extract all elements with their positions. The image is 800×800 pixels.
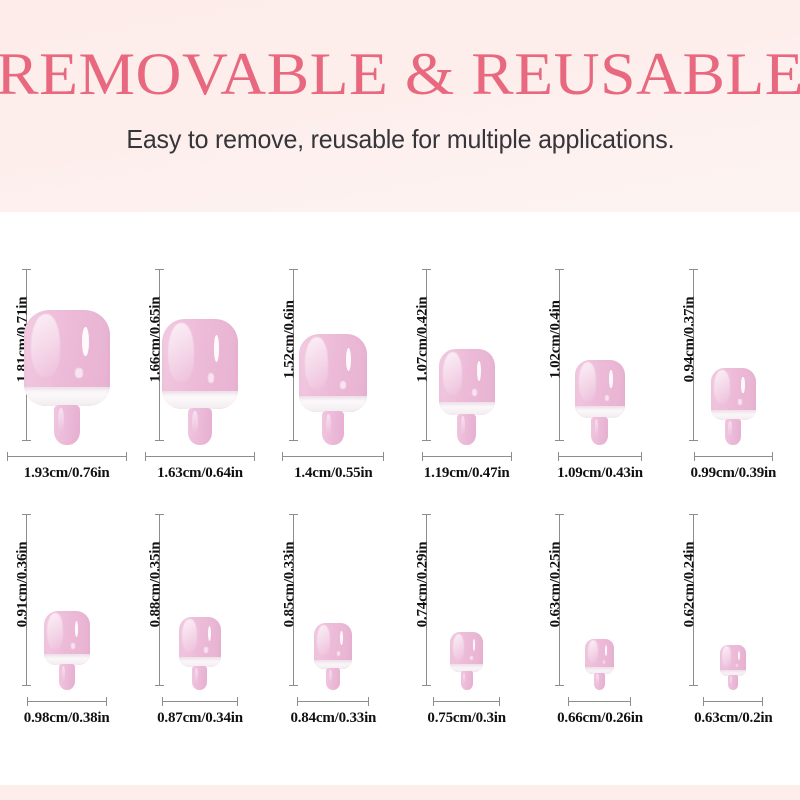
- press-on-nail-icon: [439, 349, 495, 446]
- press-on-nail-icon: [585, 639, 614, 691]
- press-on-nail-icon: [179, 617, 221, 691]
- width-label: 0.84cm/0.33in: [290, 710, 376, 727]
- width-dimension: 0.99cm/0.39in: [667, 452, 800, 482]
- nail-illustration-wrap: [133, 272, 266, 448]
- nail-stem: [54, 405, 80, 445]
- nail-gloss-highlight: [605, 645, 607, 656]
- size-cell: 1.81cm/0.71in1.93cm/0.76in: [0, 267, 133, 482]
- width-dimension-line: [282, 456, 384, 457]
- size-cell: 1.02cm/0.4in1.09cm/0.43in: [533, 267, 666, 482]
- size-cell: 1.66cm/0.65in1.63cm/0.64in: [133, 267, 266, 482]
- nail-white-tip: [24, 387, 110, 406]
- nail-gloss-highlight: [340, 631, 343, 645]
- width-dimension-line: [162, 701, 238, 702]
- width-label: 1.09cm/0.43in: [557, 465, 643, 482]
- width-dimension-line: [7, 456, 127, 457]
- nail-body: [299, 334, 367, 412]
- width-dimension-line-wrap: [694, 452, 773, 461]
- size-row-1: 1.81cm/0.71in1.93cm/0.76in1.66cm/0.65in1…: [0, 267, 800, 482]
- nail-gloss-highlight-secondary: [337, 651, 340, 656]
- width-dimension-cap-right: [630, 697, 631, 706]
- nail-gloss-highlight-secondary: [340, 381, 346, 390]
- width-dimension-cap-right: [254, 452, 255, 461]
- nail-white-tip: [162, 391, 238, 409]
- nail-gloss-highlight-secondary: [738, 399, 742, 405]
- size-chart: 1.81cm/0.71in1.93cm/0.76in1.66cm/0.65in1…: [0, 212, 800, 785]
- width-dimension-line-wrap: [422, 452, 512, 461]
- page-title: REMOVABLE & REUSABLE: [0, 44, 800, 104]
- nail-stem: [188, 408, 212, 445]
- width-dimension-line: [422, 456, 512, 457]
- nail-body: [44, 611, 90, 665]
- width-dimension-cap-right: [762, 697, 763, 706]
- width-dimension-line-wrap: [568, 697, 631, 706]
- nail-stem: [326, 668, 340, 690]
- nail-gloss-highlight-secondary: [605, 395, 609, 401]
- nail-gloss-highlight-secondary: [603, 660, 605, 664]
- nail-gloss-highlight: [609, 370, 613, 387]
- nail-gloss-highlight-secondary: [208, 373, 214, 383]
- size-row-2: 0.91cm/0.36in0.98cm/0.38in0.88cm/0.35in0…: [0, 512, 800, 727]
- width-dimension: 0.98cm/0.38in: [0, 697, 133, 727]
- width-dimension: 1.93cm/0.76in: [0, 452, 133, 482]
- nail-body: [314, 623, 352, 669]
- nail-body: [162, 319, 238, 409]
- width-label: 0.66cm/0.26in: [557, 710, 643, 727]
- width-dimension-line: [568, 701, 631, 702]
- width-dimension: 0.63cm/0.2in: [667, 697, 800, 727]
- press-on-nail-icon: [299, 334, 367, 446]
- nail-illustration-wrap: [667, 517, 800, 693]
- width-dimension-line: [694, 456, 773, 457]
- width-dimension-cap-left: [7, 452, 8, 461]
- nail-illustration-wrap: [400, 272, 533, 448]
- width-dimension-cap-left: [694, 452, 695, 461]
- nail-gloss-highlight-secondary: [472, 389, 477, 396]
- width-label: 1.63cm/0.64in: [157, 465, 243, 482]
- nail-illustration-wrap: [267, 517, 400, 693]
- width-dimension-cap-left: [282, 452, 283, 461]
- nail-stem: [457, 414, 476, 445]
- bottom-accent-strip: [0, 785, 800, 800]
- width-dimension: 0.75cm/0.3in: [400, 697, 533, 727]
- width-dimension-cap-right: [106, 697, 107, 706]
- width-dimension: 1.4cm/0.55in: [267, 452, 400, 482]
- nail-illustration-wrap: [0, 272, 133, 448]
- width-dimension-cap-right: [126, 452, 127, 461]
- header-banner: REMOVABLE & REUSABLE Easy to remove, reu…: [0, 0, 800, 212]
- width-dimension-cap-left: [27, 697, 28, 706]
- nail-gloss-highlight: [75, 621, 78, 637]
- nail-body: [24, 310, 110, 406]
- nail-illustration-wrap: [400, 517, 533, 693]
- width-dimension-cap-left: [568, 697, 569, 706]
- width-dimension-line: [27, 701, 107, 702]
- press-on-nail-icon: [575, 360, 625, 446]
- press-on-nail-icon: [44, 611, 90, 691]
- size-cell: 0.91cm/0.36in0.98cm/0.38in: [0, 512, 133, 727]
- nail-gloss-highlight: [473, 639, 475, 651]
- press-on-nail-icon: [720, 645, 746, 691]
- width-dimension: 1.63cm/0.64in: [133, 452, 266, 482]
- nail-body: [179, 617, 221, 667]
- nail-gloss-highlight: [214, 335, 220, 362]
- width-dimension-cap-right: [499, 697, 500, 706]
- nail-body: [575, 360, 625, 418]
- nail-stem: [192, 666, 207, 690]
- press-on-nail-icon: [450, 632, 483, 691]
- width-dimension-cap-left: [558, 452, 559, 461]
- nail-body: [450, 632, 483, 672]
- nail-illustration-wrap: [533, 272, 666, 448]
- width-dimension-line-wrap: [162, 697, 238, 706]
- size-cell: 0.94cm/0.37in0.99cm/0.39in: [667, 267, 800, 482]
- width-dimension-cap-left: [433, 697, 434, 706]
- press-on-nail-icon: [162, 319, 238, 446]
- nail-body: [720, 645, 746, 676]
- size-cell: 0.74cm/0.29in0.75cm/0.3in: [400, 512, 533, 727]
- width-dimension-line-wrap: [297, 697, 369, 706]
- width-label: 0.87cm/0.34in: [157, 710, 243, 727]
- width-dimension-line-wrap: [558, 452, 642, 461]
- nail-gloss-highlight: [82, 327, 88, 356]
- width-dimension-cap-left: [145, 452, 146, 461]
- width-dimension-cap-right: [772, 452, 773, 461]
- press-on-nail-icon: [24, 310, 110, 446]
- width-dimension-line: [297, 701, 369, 702]
- nail-white-tip: [299, 396, 367, 412]
- nail-gloss-highlight: [208, 626, 211, 641]
- width-dimension-cap-right: [511, 452, 512, 461]
- size-cell: 0.88cm/0.35in0.87cm/0.34in: [133, 512, 266, 727]
- nail-gloss-highlight-secondary: [470, 656, 473, 660]
- width-dimension-cap-right: [641, 452, 642, 461]
- nail-body: [711, 368, 756, 420]
- nail-stem: [591, 417, 608, 445]
- width-dimension-line: [703, 701, 763, 702]
- nail-illustration-wrap: [267, 272, 400, 448]
- nail-body: [439, 349, 495, 415]
- nail-illustration-wrap: [533, 517, 666, 693]
- nail-stem: [728, 675, 738, 690]
- width-dimension-cap-left: [703, 697, 704, 706]
- width-label: 1.19cm/0.47in: [424, 465, 510, 482]
- nail-gloss-highlight: [741, 377, 744, 393]
- size-cell: 1.52cm/0.6in1.4cm/0.55in: [267, 267, 400, 482]
- size-cell: 0.63cm/0.25in0.66cm/0.26in: [533, 512, 666, 727]
- width-label: 0.63cm/0.2in: [694, 710, 772, 727]
- nail-stem: [461, 671, 473, 690]
- width-dimension-cap-right: [368, 697, 369, 706]
- size-cell: 1.07cm/0.42in1.19cm/0.47in: [400, 267, 533, 482]
- size-cell: 0.62cm/0.24in0.63cm/0.2in: [667, 512, 800, 727]
- nail-gloss-highlight-secondary: [736, 664, 738, 667]
- width-dimension-cap-right: [237, 697, 238, 706]
- press-on-nail-icon: [711, 368, 756, 446]
- width-dimension-line-wrap: [433, 697, 500, 706]
- width-dimension-cap-right: [383, 452, 384, 461]
- press-on-nail-icon: [314, 623, 352, 691]
- width-dimension-cap-left: [422, 452, 423, 461]
- nail-stem: [725, 419, 741, 445]
- width-dimension: 0.66cm/0.26in: [533, 697, 666, 727]
- width-label: 1.4cm/0.55in: [294, 465, 372, 482]
- width-dimension-line-wrap: [703, 697, 763, 706]
- width-label: 0.98cm/0.38in: [24, 710, 110, 727]
- width-dimension-line-wrap: [27, 697, 107, 706]
- width-dimension: 1.09cm/0.43in: [533, 452, 666, 482]
- width-dimension-cap-left: [162, 697, 163, 706]
- width-dimension: 0.87cm/0.34in: [133, 697, 266, 727]
- nail-illustration-wrap: [667, 272, 800, 448]
- width-label: 0.99cm/0.39in: [690, 465, 776, 482]
- size-cell: 0.85cm/0.33in0.84cm/0.33in: [267, 512, 400, 727]
- nail-gloss-highlight-secondary: [71, 643, 75, 649]
- nail-gloss-highlight: [477, 361, 481, 381]
- width-dimension: 0.84cm/0.33in: [267, 697, 400, 727]
- page-subtitle: Easy to remove, reusable for multiple ap…: [126, 124, 674, 155]
- width-dimension-line: [558, 456, 642, 457]
- width-label: 1.93cm/0.76in: [24, 465, 110, 482]
- width-dimension-line-wrap: [282, 452, 384, 461]
- nail-gloss-highlight: [738, 651, 740, 660]
- width-dimension: 1.19cm/0.47in: [400, 452, 533, 482]
- nail-stem: [594, 673, 605, 690]
- nail-gloss-highlight: [346, 348, 351, 371]
- nail-illustration-wrap: [0, 517, 133, 693]
- width-dimension-line-wrap: [7, 452, 127, 461]
- nail-body: [585, 639, 614, 674]
- width-dimension-cap-left: [297, 697, 298, 706]
- nail-stem: [59, 664, 75, 690]
- nail-illustration-wrap: [133, 517, 266, 693]
- nail-gloss-highlight-secondary: [204, 647, 208, 653]
- nail-stem: [322, 411, 344, 445]
- width-dimension-line: [433, 701, 500, 702]
- width-dimension-line: [145, 456, 255, 457]
- nail-gloss-highlight-secondary: [75, 368, 82, 379]
- width-label: 0.75cm/0.3in: [427, 710, 505, 727]
- width-dimension-line-wrap: [145, 452, 255, 461]
